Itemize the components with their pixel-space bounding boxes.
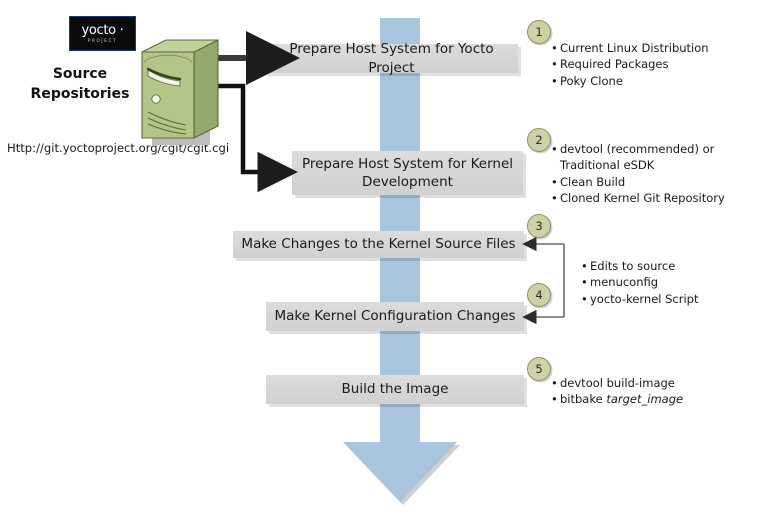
step-number-4-text: 4 [535, 288, 542, 302]
step-number-badge-4: 4 [527, 283, 551, 307]
list-item: • Poky Clone [551, 73, 751, 89]
source-label-line2: Repositories [20, 84, 140, 104]
bullet-text: Current Linux Distribution [560, 40, 751, 56]
bullet-dot-icon: • [551, 391, 560, 407]
step-number-1-text: 1 [535, 25, 542, 39]
bullet-text: devtool (recommended) or Traditional eSD… [560, 141, 756, 174]
step-number-3-text: 3 [535, 219, 542, 233]
list-item: • Current Linux Distribution [551, 40, 751, 56]
process-box-step-1[interactable]: Prepare Host System for Yocto Project [265, 44, 518, 73]
list-item: • menuconfig [581, 274, 761, 290]
bullet-dot-icon: • [581, 274, 590, 290]
process-box-step-5-label: Build the Image [342, 380, 449, 398]
bullet-dot-icon: • [581, 258, 590, 274]
bullet-dot-icon: • [551, 190, 560, 206]
step-number-badge-3: 3 [527, 214, 551, 238]
steps-3-4-shared-bullet-list: • Edits to source • menuconfig • yocto-k… [581, 258, 761, 307]
yocto-project-logo: yocto · PROJECT [69, 16, 136, 51]
yocto-logo-wordmark: yocto · [81, 24, 123, 37]
bullet-dot-icon: • [551, 40, 560, 56]
bullet-dot-icon: • [551, 56, 560, 72]
list-item: • devtool build-image [551, 375, 751, 391]
bullet-text: Cloned Kernel Git Repository [560, 190, 756, 206]
process-box-step-3[interactable]: Make Changes to the Kernel Source Files [233, 231, 524, 258]
bullet-text: devtool build-image [560, 375, 751, 391]
process-box-step-4-label: Make Kernel Configuration Changes [274, 307, 515, 325]
step-2-bullet-list: • devtool (recommended) or Traditional e… [551, 141, 756, 206]
list-item: • Required Packages [551, 56, 751, 72]
flow-arrow-head-icon [343, 442, 457, 502]
process-box-step-3-label: Make Changes to the Kernel Source Files [241, 235, 515, 253]
bullet-text: Clean Build [560, 174, 756, 190]
server-tower-icon [136, 38, 222, 150]
bullet-dot-icon: • [551, 174, 560, 190]
bullet-dot-icon: • [581, 291, 590, 307]
source-label-line1: Source [20, 64, 140, 84]
bullet-text-with-italic: bitbake target_image [560, 391, 751, 407]
step-number-5-text: 5 [535, 362, 542, 376]
list-item: • Clean Build [551, 174, 756, 190]
process-box-step-4[interactable]: Make Kernel Configuration Changes [266, 302, 524, 331]
bullet-text: Edits to source [590, 258, 761, 274]
bullet-text: yocto-kernel Script [590, 291, 761, 307]
process-box-step-2-label: Prepare Host System for Kernel Developme… [292, 155, 523, 191]
step-number-badge-2: 2 [527, 128, 551, 152]
bullet-dot-icon: • [551, 73, 560, 89]
bullet-text: menuconfig [590, 274, 761, 290]
list-item: • devtool (recommended) or Traditional e… [551, 141, 756, 174]
yocto-logo-subtext: PROJECT [88, 39, 117, 43]
process-box-step-1-label: Prepare Host System for Yocto Project [265, 40, 518, 76]
list-item: • bitbake target_image [551, 391, 751, 407]
diagram-canvas: yocto · PROJECT Source Repositories Http… [0, 0, 769, 517]
bullet-dot-icon: • [551, 141, 560, 157]
bullet-dot-icon: • [551, 375, 560, 391]
step-number-2-text: 2 [535, 133, 542, 147]
list-item: • Cloned Kernel Git Repository [551, 190, 756, 206]
process-box-step-2[interactable]: Prepare Host System for Kernel Developme… [292, 151, 523, 195]
bullet-text: bitbake [560, 392, 606, 406]
bullet-text-italic: target_image [606, 392, 683, 406]
bullet-text: Poky Clone [560, 73, 751, 89]
bullet-text: Required Packages [560, 56, 751, 72]
step-number-badge-5: 5 [527, 357, 551, 381]
source-repositories-label: Source Repositories [20, 64, 140, 105]
list-item: • yocto-kernel Script [581, 291, 761, 307]
process-box-step-5[interactable]: Build the Image [266, 375, 524, 404]
list-item: • Edits to source [581, 258, 761, 274]
step-5-bullet-list: • devtool build-image • bitbake target_i… [551, 375, 751, 408]
step-1-bullet-list: • Current Linux Distribution • Required … [551, 40, 751, 89]
step-number-badge-1: 1 [527, 20, 551, 44]
